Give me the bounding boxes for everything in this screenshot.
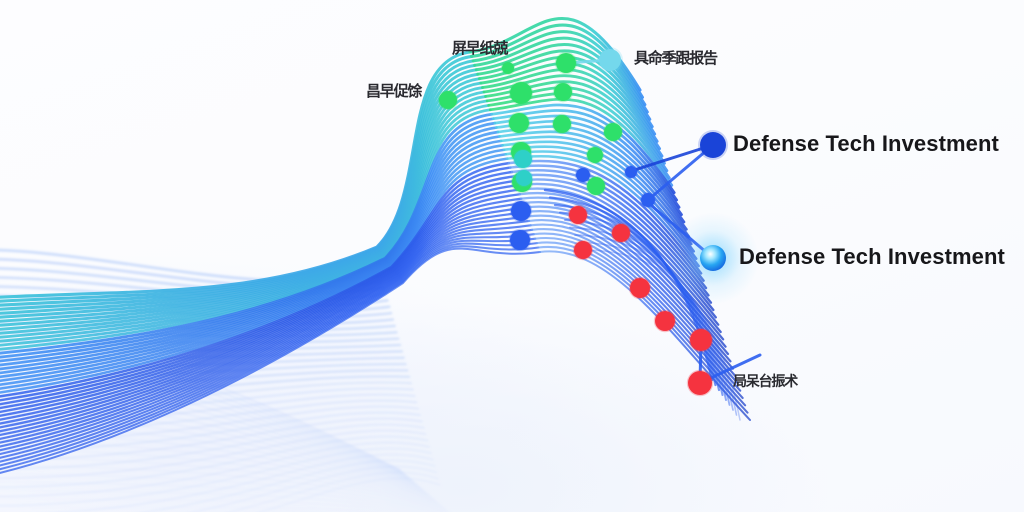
anchor-node[interactable] [597, 47, 623, 73]
data-node[interactable] [687, 370, 713, 396]
anchor-node[interactable] [685, 230, 741, 286]
data-node[interactable] [573, 240, 593, 260]
data-node[interactable] [553, 82, 573, 102]
data-node[interactable] [438, 90, 458, 110]
data-node[interactable] [611, 223, 631, 243]
data-node[interactable] [508, 112, 530, 134]
data-node[interactable] [509, 81, 533, 105]
data-node[interactable] [640, 192, 656, 208]
label-bottom-right-cjk: 局呆台振术 [733, 371, 797, 391]
anchor-node[interactable] [698, 130, 728, 160]
data-node[interactable] [509, 229, 531, 251]
data-node[interactable] [603, 122, 623, 142]
data-node[interactable] [568, 205, 588, 225]
data-node[interactable] [555, 52, 577, 74]
data-node[interactable] [624, 165, 638, 179]
data-node[interactable] [575, 167, 591, 183]
visualization-canvas: 屏早纸兢 昌早促馀 具命季跟报告 Defense Tech Investment… [0, 0, 1024, 512]
label-secondary-investment: Defense Tech Investment [739, 244, 1005, 270]
data-node[interactable] [552, 114, 572, 134]
label-primary-investment: Defense Tech Investment [733, 131, 999, 157]
data-node[interactable] [654, 310, 676, 332]
data-node[interactable] [501, 61, 515, 75]
data-node[interactable] [689, 328, 713, 352]
data-node[interactable] [510, 200, 532, 222]
label-top-left-cjk: 屏早纸兢 [452, 37, 507, 58]
label-upper-left-cjk: 昌早促馀 [366, 80, 421, 101]
data-node[interactable] [629, 277, 651, 299]
data-node[interactable] [586, 146, 604, 164]
data-node[interactable] [515, 169, 533, 187]
label-top-right-cjk: 具命季跟报告 [634, 47, 717, 68]
data-node[interactable] [513, 149, 533, 169]
